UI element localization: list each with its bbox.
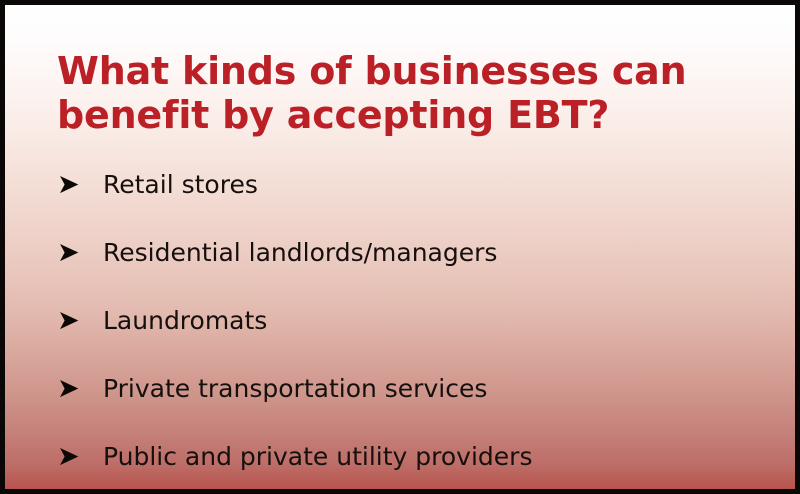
list-item: ➤ Public and private utility providers [57, 423, 775, 491]
list-item-label: Public and private utility providers [103, 442, 775, 472]
arrowhead-bullet-icon: ➤ [57, 307, 103, 334]
arrowhead-bullet-icon: ➤ [57, 171, 103, 198]
list-item: ➤ Residential landlords/managers [57, 219, 775, 287]
slide-content: What kinds of businesses can benefit by … [5, 5, 795, 489]
list-item: ➤ Private transportation services [57, 355, 775, 423]
list-item-label: Retail stores [103, 170, 775, 200]
slide-title-line-1: What kinds of businesses can [57, 49, 747, 93]
slide-title-line-2: benefit by accepting EBT? [57, 93, 747, 137]
list-item-label: Laundromats [103, 306, 775, 336]
slide-container: What kinds of businesses can benefit by … [0, 0, 800, 494]
arrowhead-bullet-icon: ➤ [57, 443, 103, 470]
list-item-label: Private transportation services [103, 374, 775, 404]
arrowhead-bullet-icon: ➤ [57, 239, 103, 266]
business-types-list: ➤ Retail stores ➤ Residential landlords/… [57, 151, 775, 491]
list-item: ➤ Laundromats [57, 287, 775, 355]
list-item: ➤ Retail stores [57, 151, 775, 219]
slide-title: What kinds of businesses can benefit by … [57, 49, 747, 137]
arrowhead-bullet-icon: ➤ [57, 375, 103, 402]
list-item-label: Residential landlords/managers [103, 238, 775, 268]
